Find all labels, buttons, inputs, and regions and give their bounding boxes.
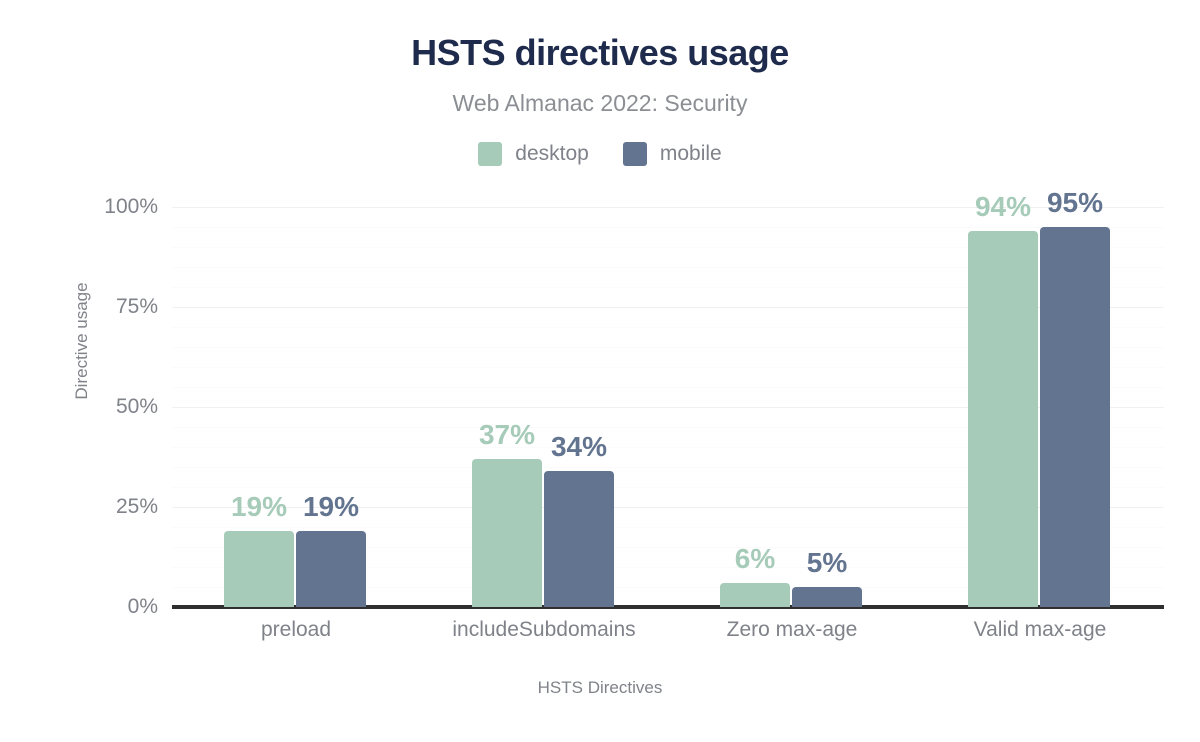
- legend-label-desktop: desktop: [515, 142, 589, 166]
- y-axis-tick-label: 0%: [68, 595, 158, 619]
- bar-desktop-2[interactable]: [720, 583, 790, 607]
- chart-legend: desktop mobile: [0, 142, 1200, 166]
- bar-mobile-1[interactable]: [544, 471, 614, 607]
- legend-label-mobile: mobile: [660, 142, 722, 166]
- chart-title: HSTS directives usage: [0, 32, 1200, 74]
- x-axis-tick-label: Valid max-age: [974, 618, 1107, 642]
- gridline-minor: [172, 227, 1164, 228]
- bar-desktop-3[interactable]: [968, 231, 1038, 607]
- x-axis-title: HSTS Directives: [0, 678, 1200, 698]
- bar-value-label: 94%: [975, 191, 1031, 223]
- y-axis-tick-label: 100%: [68, 195, 158, 219]
- bar-mobile-0[interactable]: [296, 531, 366, 607]
- legend-swatch-mobile: [623, 142, 647, 166]
- y-axis-tick-label: 25%: [68, 495, 158, 519]
- bar-mobile-3[interactable]: [1040, 227, 1110, 607]
- y-axis-tick-label: 50%: [68, 395, 158, 419]
- bar-value-label: 95%: [1047, 187, 1103, 219]
- x-axis-tick-label: preload: [261, 618, 331, 642]
- bar-desktop-1[interactable]: [472, 459, 542, 607]
- bar-value-label: 5%: [807, 547, 847, 579]
- bar-value-label: 34%: [551, 431, 607, 463]
- x-axis-tick-label: includeSubdomains: [452, 618, 635, 642]
- x-axis-tick-label: Zero max-age: [727, 618, 858, 642]
- y-axis-tick-label: 75%: [68, 295, 158, 319]
- bar-mobile-2[interactable]: [792, 587, 862, 607]
- bar-value-label: 6%: [735, 543, 775, 575]
- legend-item-desktop[interactable]: desktop: [478, 142, 589, 166]
- chart-container: HSTS directives usage Web Almanac 2022: …: [0, 0, 1200, 742]
- legend-item-mobile[interactable]: mobile: [623, 142, 722, 166]
- bar-value-label: 37%: [479, 419, 535, 451]
- bar-desktop-0[interactable]: [224, 531, 294, 607]
- legend-swatch-desktop: [478, 142, 502, 166]
- chart-subtitle: Web Almanac 2022: Security: [0, 90, 1200, 117]
- bar-value-label: 19%: [231, 491, 287, 523]
- bar-value-label: 19%: [303, 491, 359, 523]
